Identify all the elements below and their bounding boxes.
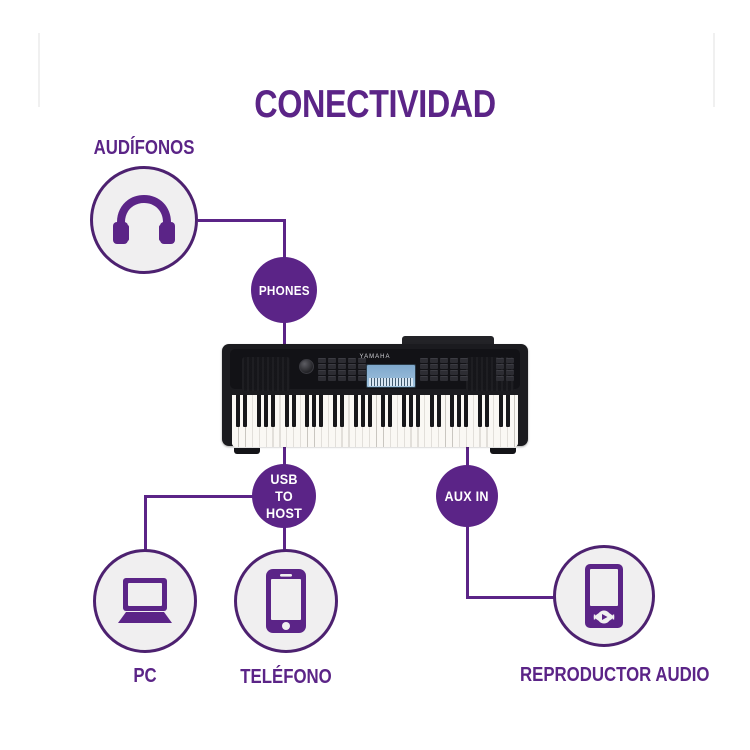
keyboard-volume-knob[interactable]: [299, 359, 314, 374]
line-usb-to-pc-vertical: [144, 495, 147, 555]
audio-player-device-circle[interactable]: [553, 545, 655, 647]
keyboard-foot-right: [490, 448, 516, 454]
keyboard-button-bank-right[interactable]: [420, 358, 468, 380]
keyboard-lcd-screen: [366, 364, 416, 388]
keyboard-button-bank-far-right[interactable]: [496, 358, 514, 380]
keyboard-speaker-left: [242, 357, 290, 391]
keyboard-instrument: YAMAHA: [222, 336, 528, 446]
keyboard-black-keys: [232, 395, 518, 427]
keyboard-keys[interactable]: [232, 395, 518, 447]
port-badge-usb-label-line2: TO: [266, 488, 302, 505]
port-badge-aux-in[interactable]: AUX IN: [436, 465, 498, 527]
frame-tick-left: [38, 33, 40, 107]
keyboard-body: YAMAHA: [222, 344, 528, 446]
pc-device-circle[interactable]: [93, 549, 197, 653]
port-badge-phones-label: PHONES: [258, 283, 309, 298]
port-badge-usb-label-line3: HOST: [266, 505, 302, 522]
smartphone-icon: [265, 568, 307, 634]
phone-device-circle[interactable]: [234, 549, 338, 653]
caption-phone: TELÉFONO: [202, 666, 370, 689]
headphones-device-circle[interactable]: [90, 166, 198, 274]
laptop-icon: [114, 575, 176, 627]
keyboard-control-panel: YAMAHA: [230, 349, 520, 389]
keyboard-foot-left: [234, 448, 260, 454]
line-aux-to-player-vertical: [466, 520, 469, 599]
port-badge-aux-label: AUX IN: [445, 488, 489, 504]
frame-tick-right: [713, 33, 715, 107]
port-badge-phones[interactable]: PHONES: [251, 257, 317, 323]
headphones-icon: [111, 192, 177, 248]
connectivity-diagram: CONECTIVIDAD AUDÍFONOS PHONES: [0, 0, 750, 750]
port-badge-usb-to-host[interactable]: USB TO HOST: [252, 464, 316, 528]
line-aux-to-player-horizontal: [466, 596, 554, 599]
mp3-player-icon: [584, 563, 624, 629]
page-title: CONECTIVIDAD: [64, 83, 687, 127]
line-usb-to-pc-horizontal: [144, 495, 259, 498]
caption-audio-player: REPRODUCTOR AUDIO: [520, 664, 688, 687]
port-badge-usb-label-line1: USB: [266, 471, 302, 488]
caption-headphones: AUDÍFONOS: [60, 137, 228, 160]
line-headphones-to-phones-horizontal: [198, 219, 286, 222]
keyboard-button-bank-left[interactable]: [318, 358, 366, 380]
